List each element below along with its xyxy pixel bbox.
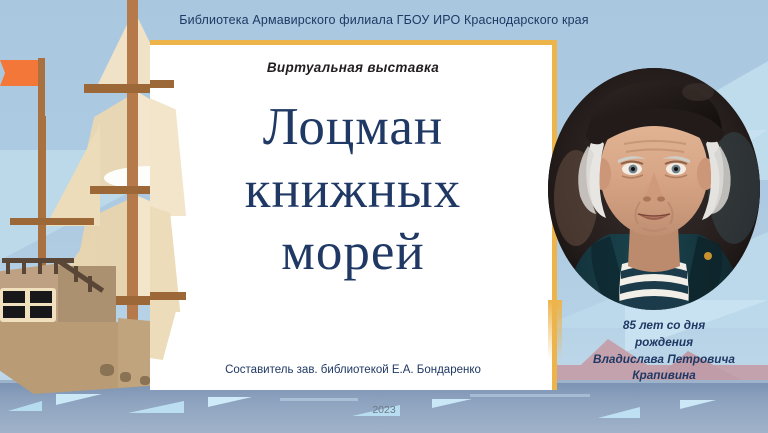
- spar-yard: [10, 218, 94, 225]
- porthole: [140, 376, 150, 385]
- anniversary-line-2: рождения: [560, 334, 768, 351]
- railing-post: [74, 266, 78, 282]
- page-title: Лоцман книжных морей: [150, 96, 556, 284]
- wave-line: [280, 398, 358, 401]
- porthole: [100, 364, 114, 376]
- portrait-artwork: [548, 68, 760, 310]
- portrait-photo-icon: [548, 68, 760, 310]
- anniversary-caption: 85 лет со дня рождения Владислава Петров…: [560, 317, 768, 384]
- stern-window: [30, 291, 52, 303]
- title-line-3: морей: [150, 221, 556, 284]
- anniversary-line-4: Крапивина: [560, 367, 768, 384]
- compiler-credit: Составитель зав. библиотекой Е.А. Бондар…: [150, 364, 556, 376]
- sail-jib-upper: [46, 124, 100, 226]
- anniversary-line-1: 85 лет со дня: [560, 317, 768, 334]
- stern-window: [3, 306, 25, 318]
- title-line-1: Лоцман: [150, 96, 556, 159]
- virtual-exhibition-poster: Библиотека Армавирского филиала ГБОУ ИРО…: [0, 0, 768, 433]
- porthole: [120, 372, 131, 382]
- spar-yard: [150, 80, 174, 88]
- stern-window: [30, 306, 52, 318]
- spar-yard: [150, 292, 186, 300]
- exhibition-subtitle: Виртуальная выставка: [150, 60, 556, 75]
- stern-window: [3, 291, 25, 303]
- wave-line: [470, 394, 590, 397]
- railing-post: [54, 258, 58, 274]
- year-label: 2023: [0, 404, 768, 416]
- title-line-2: книжных: [150, 159, 556, 222]
- railing-post: [38, 258, 42, 274]
- pennant-flag-icon: [0, 60, 42, 86]
- railing-post: [6, 258, 10, 274]
- anniversary-line-3: Владислава Петровича: [560, 351, 768, 368]
- railing-post: [88, 276, 92, 292]
- library-header: Библиотека Армавирского филиала ГБОУ ИРО…: [0, 13, 768, 27]
- railing-post: [22, 258, 26, 274]
